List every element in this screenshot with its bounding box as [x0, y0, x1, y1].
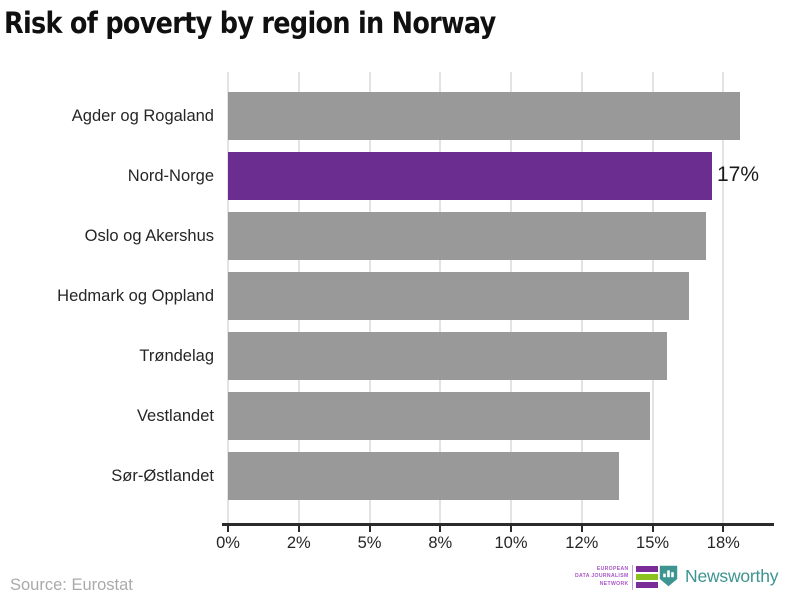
- chart-title: Risk of poverty by region in Norway: [4, 6, 496, 40]
- bar-2[interactable]: [228, 212, 706, 260]
- y-axis-label-4: Trøndelag: [0, 346, 214, 366]
- x-tick-4: [510, 523, 512, 532]
- x-tick-label-5: 12%: [565, 534, 598, 553]
- x-tick-label-7: 18%: [707, 534, 740, 553]
- x-tick-5: [581, 523, 583, 532]
- y-axis-label-5: Vestlandet: [0, 406, 214, 426]
- edjnet-line-3: NETWORK: [575, 581, 629, 588]
- edjnet-divider: [632, 565, 633, 590]
- edjnet-logo: EUROPEAN DATA JOURNALISM NETWORK: [575, 563, 658, 591]
- newsworthy-logo: Newsworthy: [659, 563, 778, 589]
- bar-1[interactable]: [228, 152, 712, 200]
- x-tick-0: [227, 523, 229, 532]
- edjnet-bar-purple-bottom: [636, 582, 658, 588]
- x-tick-label-6: 15%: [636, 534, 669, 553]
- y-axis-label-1: Nord-Norge: [0, 166, 214, 186]
- x-tick-label-0: 0%: [216, 534, 240, 553]
- bar-6[interactable]: [228, 452, 619, 500]
- bar-series: 17%: [228, 72, 770, 524]
- bar-0[interactable]: [228, 92, 740, 140]
- plot-area: 17%: [228, 72, 770, 524]
- x-tick-3: [439, 523, 441, 532]
- y-axis-label-0: Agder og Rogaland: [0, 106, 214, 126]
- source-note: Source: Eurostat: [10, 576, 133, 595]
- x-tick-label-3: 8%: [428, 534, 452, 553]
- edjnet-line-1: EUROPEAN: [575, 566, 629, 573]
- y-axis-labels: Agder og RogalandNord-NorgeOslo og Akers…: [0, 72, 214, 524]
- bar-5[interactable]: [228, 392, 650, 440]
- edjnet-line-2: DATA JOURNALISM: [575, 573, 629, 580]
- edjnet-bar-marks: [636, 566, 658, 588]
- edjnet-bar-green: [636, 574, 658, 580]
- bar-value-label-1: 17%: [717, 163, 759, 187]
- x-tick-7: [722, 523, 724, 532]
- y-axis-label-3: Hedmark og Oppland: [0, 286, 214, 306]
- bar-4[interactable]: [228, 332, 667, 380]
- x-tick-1: [298, 523, 300, 532]
- x-tick-2: [369, 523, 371, 532]
- newsworthy-wordmark: Newsworthy: [685, 566, 778, 587]
- y-axis-label-6: Sør-Østlandet: [0, 466, 214, 486]
- x-tick-label-4: 10%: [495, 534, 528, 553]
- x-tick-label-2: 5%: [358, 534, 382, 553]
- edjnet-bar-purple-top: [636, 566, 658, 572]
- edjnet-wordmark: EUROPEAN DATA JOURNALISM NETWORK: [575, 566, 629, 588]
- y-axis-label-2: Oslo og Akershus: [0, 226, 214, 246]
- bar-3[interactable]: [228, 272, 689, 320]
- x-tick-6: [652, 523, 654, 532]
- x-axis-line: [222, 523, 774, 526]
- newsworthy-chart-pin-icon: [659, 565, 678, 587]
- x-tick-label-1: 2%: [287, 534, 311, 553]
